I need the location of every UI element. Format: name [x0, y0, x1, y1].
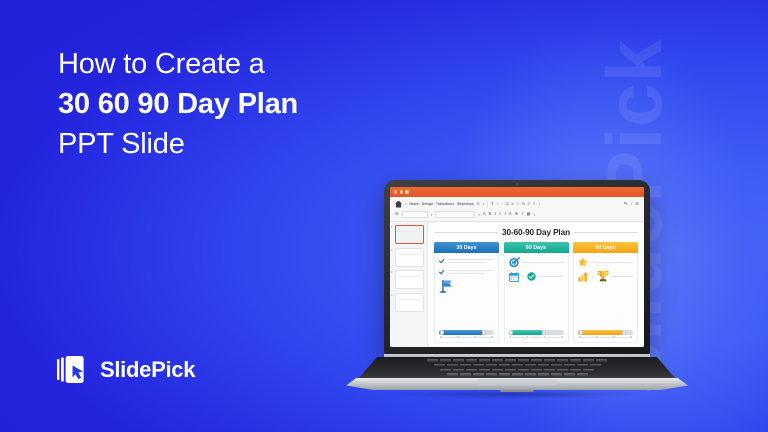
trackpad[interactable] — [474, 379, 560, 386]
laptop-screen: ▾ Home Design Transitions Slideshow A ▾ … — [390, 187, 644, 347]
list-item — [578, 257, 633, 267]
indent-icon[interactable]: I — [504, 212, 506, 217]
text-tool-icon[interactable]: T — [491, 202, 494, 207]
slide-number: 2 — [391, 249, 392, 252]
thumbnail-placeholder — [399, 254, 420, 255]
slide-thumbnail-4[interactable] — [395, 293, 424, 312]
align-center-icon[interactable]: ≡ — [533, 202, 535, 206]
minimize-icon[interactable] — [400, 190, 403, 193]
text-placeholder — [538, 276, 564, 277]
column-body — [505, 253, 568, 330]
list-item — [439, 257, 494, 265]
strikethrough-icon[interactable]: ≠ — [512, 202, 514, 206]
slider-ticks — [509, 336, 564, 338]
headline-line-1: How to Create a — [58, 44, 418, 84]
title-rule-right — [574, 232, 638, 233]
page-title: How to Create a 30 60 90 Day Plan PPT Sl… — [58, 44, 418, 164]
slider-fill — [509, 330, 543, 334]
slide-thumbnail-3[interactable] — [395, 270, 424, 289]
slider-ticks — [439, 336, 494, 338]
column-body — [574, 253, 637, 330]
chevron-down-icon[interactable]: ▾ — [431, 213, 433, 217]
slide-title: 30-60-90 Day Plan — [502, 228, 570, 237]
column-header-60-days: 60 Days — [504, 242, 569, 253]
slider-handle-end[interactable] — [622, 330, 626, 334]
slider-handle-start[interactable] — [440, 330, 444, 334]
slide-column-90-days[interactable]: 90 Days — [573, 242, 638, 343]
promo-banner: SlidePick How to Create a 30 60 90 Day P… — [0, 0, 768, 432]
flag-icon — [439, 279, 454, 293]
calendar-icon — [509, 272, 519, 282]
thumbnail-placeholder — [399, 276, 420, 277]
list-item[interactable]: 4 — [395, 293, 424, 312]
thumbnail-placeholder — [399, 231, 420, 232]
list-item[interactable]: 2 — [395, 248, 424, 267]
chevron-down-icon[interactable]: ▾ — [483, 202, 485, 206]
table-icon[interactable]: ▦ — [527, 212, 531, 216]
font-color-icon[interactable]: A — [477, 202, 480, 206]
font-icon[interactable]: A — [483, 212, 486, 216]
slide-thumbnail-panel[interactable]: 1 2 3 — [390, 222, 428, 347]
slide-thumbnail-2[interactable] — [395, 248, 424, 267]
check-circle-icon — [527, 272, 536, 281]
headline-line-3: PPT Slide — [58, 124, 418, 164]
bullets-icon[interactable]: ≡ — [499, 212, 501, 216]
laptop-base — [344, 354, 690, 392]
laptop-keydeck — [358, 357, 676, 379]
chevron-down-icon[interactable]: ▾ — [478, 213, 480, 217]
font-size-icon[interactable]: A — [522, 202, 525, 206]
list-item — [509, 271, 564, 282]
laptop-mockup: ▾ Home Design Transitions Slideshow A ▾ … — [344, 180, 690, 392]
hamburger-icon[interactable]: ☰ — [635, 202, 639, 206]
text-case-icon[interactable]: A — [509, 212, 512, 216]
list-item — [439, 268, 494, 276]
slide-column-60-days[interactable]: 60 Days — [504, 242, 569, 343]
list-item[interactable]: 3 — [395, 270, 424, 289]
tab-home[interactable]: Home — [410, 202, 419, 206]
laptop-shadow — [350, 390, 684, 399]
slider-fill — [578, 330, 623, 334]
slide-column-30-days[interactable]: 30 Days — [434, 242, 499, 343]
chevron-down-icon[interactable]: ▾ — [534, 213, 536, 217]
font-family-select[interactable] — [402, 211, 428, 218]
progress-slider-90-days[interactable] — [578, 330, 633, 334]
progress-slider-wrap[interactable] — [505, 330, 568, 338]
app-workspace: 1 2 3 — [390, 222, 644, 347]
progress-slider-wrap[interactable] — [435, 330, 498, 338]
trophy-icon — [597, 270, 609, 282]
column-body — [435, 253, 498, 330]
subscript-icon[interactable]: ℴ — [517, 202, 519, 206]
pen-icon[interactable]: ✎ — [623, 201, 629, 208]
progress-slider-wrap[interactable] — [574, 330, 637, 338]
star-icon — [578, 257, 588, 267]
check-icon — [439, 258, 445, 264]
list-item[interactable]: 1 — [395, 225, 424, 244]
webcam-icon — [516, 183, 519, 186]
app-titlebar — [390, 187, 644, 197]
list-item — [578, 270, 633, 282]
list-item — [439, 279, 494, 293]
check-icon — [439, 269, 445, 275]
tab-transitions[interactable]: Transitions — [436, 202, 454, 206]
align-icon[interactable]: ≡ — [521, 212, 523, 216]
underline-icon[interactable]: U — [505, 202, 508, 206]
layout-icon[interactable]: ☰ — [395, 212, 399, 216]
bold-icon[interactable]: B — [489, 212, 492, 216]
text-placeholder — [448, 270, 495, 273]
text-placeholder — [448, 259, 495, 262]
align-left-icon[interactable]: ≡ — [528, 202, 530, 206]
slide-number: 4 — [391, 294, 392, 297]
style-select[interactable] — [435, 211, 475, 218]
thumbnail-placeholder — [399, 299, 420, 300]
slide-canvas[interactable]: 30-60-90 Day Plan 30 Days — [428, 222, 644, 347]
slide-thumbnail-1[interactable] — [395, 225, 424, 244]
chevron-down-icon[interactable]: ▾ — [631, 202, 633, 206]
tab-design[interactable]: Design — [422, 202, 433, 206]
progress-slider-30-days[interactable] — [439, 330, 494, 334]
close-icon[interactable] — [394, 190, 397, 193]
growth-chart-icon — [578, 271, 589, 282]
slides-cursor-icon — [57, 356, 91, 384]
text-placeholder — [522, 262, 564, 263]
divider — [487, 201, 488, 208]
slash-icon[interactable]: / — [501, 202, 502, 207]
list-item — [509, 257, 564, 268]
text-placeholder — [596, 262, 634, 263]
brand-name: SlidePick — [100, 357, 195, 383]
slide-number: 1 — [391, 226, 392, 229]
progress-slider-60-days[interactable] — [509, 330, 564, 334]
slide-number: 3 — [391, 271, 392, 274]
slide-title-row: 30-60-90 Day Plan — [434, 228, 638, 237]
column-header-30-days: 30 Days — [434, 242, 499, 253]
italic-icon[interactable]: I — [494, 212, 496, 217]
column-header-90-days: 90 Days — [573, 242, 638, 253]
slider-handle-end[interactable] — [482, 330, 486, 334]
app-ribbon: ▾ Home Design Transitions Slideshow A ▾ … — [390, 197, 644, 222]
target-icon — [509, 257, 520, 268]
keyboard — [358, 359, 676, 376]
slider-ticks — [578, 336, 633, 338]
chevron-down-icon[interactable]: ▾ — [405, 202, 407, 206]
home-icon[interactable] — [395, 201, 402, 208]
slider-handle-start[interactable] — [579, 330, 583, 334]
spacer — [509, 285, 564, 291]
chevron-down-icon[interactable]: ▾ — [538, 202, 540, 206]
laptop-lid: ▾ Home Design Transitions Slideshow A ▾ … — [384, 180, 650, 356]
shapes-icon[interactable]: ❋ — [515, 212, 519, 216]
slider-handle-end[interactable] — [542, 330, 546, 334]
slider-fill — [439, 330, 483, 334]
spacer — [578, 285, 633, 289]
brand-logo[interactable]: SlidePick — [57, 356, 195, 384]
tab-slideshow[interactable]: Slideshow — [457, 202, 474, 206]
title-rule-left — [434, 232, 498, 233]
slide-columns: 30 Days — [434, 242, 638, 343]
text-placeholder — [611, 276, 633, 277]
maximize-icon[interactable] — [405, 190, 408, 193]
italic-icon[interactable]: / — [497, 202, 498, 207]
headline-line-2: 30 60 90 Day Plan — [58, 84, 418, 124]
